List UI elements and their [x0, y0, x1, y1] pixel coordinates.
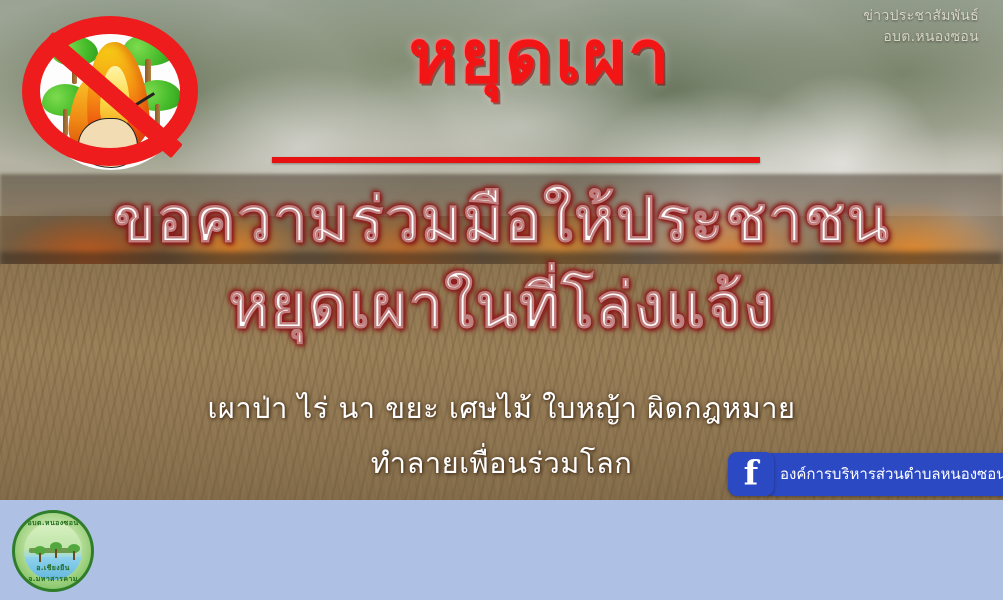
fire-prevention-poster: ข่าวประชาสัมพันธ์ อบต.หนองซอน หยุดเผา ขอ… [0, 0, 1003, 600]
subline-legal-warning: เผาป่า ไร่ นา ขยะ เศษไม้ ใบหญ้า ผิดกฎหมา… [0, 385, 1003, 431]
page-title: หยุดเผา [330, 18, 750, 98]
title-divider [272, 157, 760, 163]
seal-text-top: อบต.หนองซอน [15, 518, 91, 529]
seal-tree-icon [34, 546, 46, 562]
headline-primary: ขอความร่วมมือให้ประชาชน [0, 186, 1003, 254]
header-note: ข่าวประชาสัมพันธ์ อบต.หนองซอน [863, 6, 979, 48]
facebook-page-name[interactable]: องค์การบริหารส่วนตำบลหนองซอน [766, 453, 1003, 496]
seal-tree-trunk [55, 549, 57, 558]
seal-tree-icon [68, 544, 80, 560]
header-note-line2: อบต.หนองซอน [863, 27, 979, 48]
seal-tree-trunk [39, 553, 41, 562]
headline-secondary: หยุดเผาในที่โล่งแจ้ง [0, 272, 1003, 340]
header-note-line1: ข่าวประชาสัมพันธ์ [863, 6, 979, 27]
facebook-badge[interactable]: องค์การบริหารส่วนตำบลหนองซอน [728, 452, 1003, 496]
no-open-burning-icon [22, 16, 206, 174]
seal-text-bottom: อ.เชียงยืน จ.มหาสารคาม [15, 563, 91, 585]
seal-tree-trunk [73, 551, 75, 560]
seal-tree-icon [50, 542, 62, 558]
organization-seal-logo: อบต.หนองซอน อ.เชียงยืน จ.มหาสารคาม [12, 510, 94, 592]
footer-bar: อบต.หนองซอน อ.เชียงยืน จ.มหาสารคาม ด้วยค… [0, 500, 1003, 600]
facebook-icon[interactable] [728, 452, 774, 496]
